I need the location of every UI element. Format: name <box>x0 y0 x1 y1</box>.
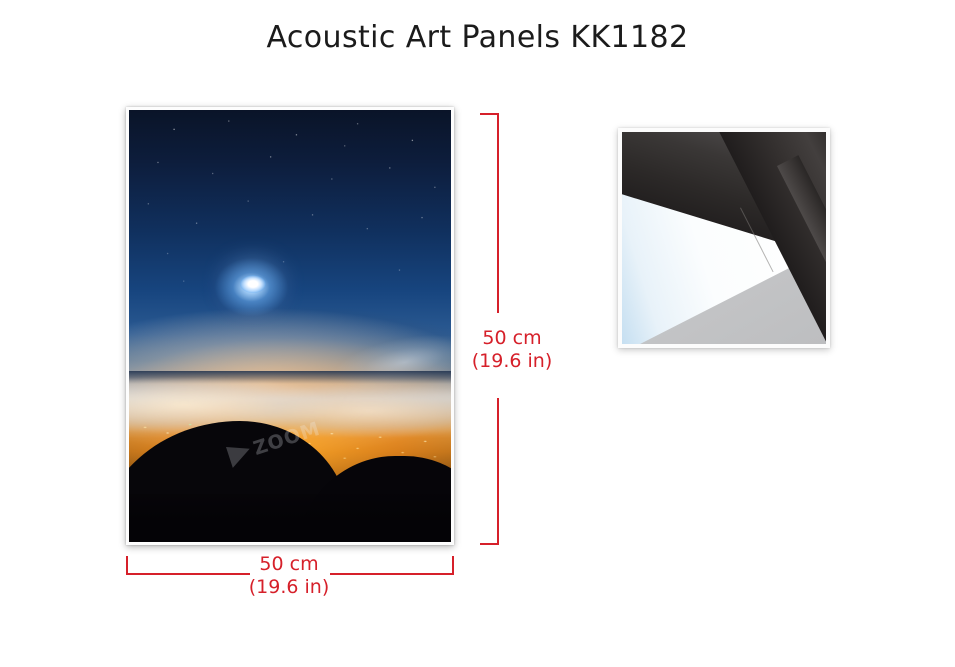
panel-black-frame: ZOOM <box>129 110 451 542</box>
art-panel[interactable]: ZOOM <box>126 107 454 545</box>
foreground-base <box>129 494 451 542</box>
width-dimension-label: 50 cm (19.6 in) <box>229 553 349 599</box>
artwork-night-sky-city-lights: ZOOM <box>129 110 451 542</box>
height-dimension-line-lower <box>497 398 499 545</box>
height-value-metric: 50 cm <box>452 327 572 350</box>
width-value-imperial: (19.6 in) <box>229 576 349 599</box>
inset-photo <box>622 132 826 344</box>
height-dimension-label: 50 cm (19.6 in) <box>452 327 572 373</box>
height-value-imperial: (19.6 in) <box>452 350 572 373</box>
width-value-metric: 50 cm <box>229 553 349 576</box>
height-dimension-tick-bottom <box>480 543 499 545</box>
height-dimension-line-upper <box>497 113 499 313</box>
frame-detail-inset[interactable] <box>618 128 830 348</box>
width-dimension-tick-right <box>452 556 454 575</box>
page-title: Acoustic Art Panels KK1182 <box>0 20 955 55</box>
moon-icon <box>240 275 266 293</box>
